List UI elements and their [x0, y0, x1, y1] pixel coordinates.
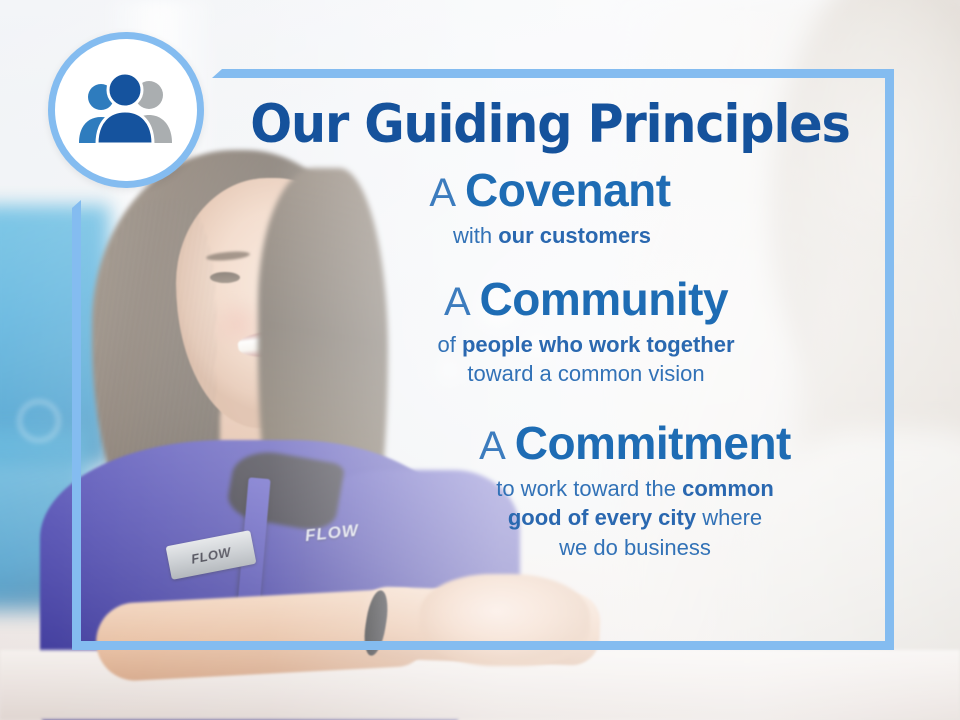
- principle-commitment-heading: A Commitment: [370, 420, 900, 468]
- principle-commitment-sub-bold-1: common: [682, 476, 774, 501]
- principle-community-subtext: of people who work together toward a com…: [272, 330, 900, 388]
- principles-content: Our Guiding Principles A Covenant with o…: [200, 80, 900, 640]
- principle-community-sub-bold-1: people who work together: [462, 332, 735, 357]
- principle-covenant-heading: A Covenant: [200, 167, 900, 215]
- principle-covenant-sub-bold-1: our customers: [498, 223, 651, 248]
- principle-commitment-sub-plain-1: to work toward the: [496, 476, 682, 501]
- principle-commitment-word: Commitment: [515, 417, 791, 469]
- principle-commitment-lead: A: [479, 424, 515, 468]
- principle-commitment-sub-last-line: we do business: [559, 535, 711, 560]
- people-group-badge: [48, 32, 204, 188]
- principle-commitment-sub-plain-3: where: [696, 505, 762, 530]
- principle-covenant: A Covenant with our customers: [200, 167, 900, 250]
- photo-car-brand-logo: [18, 400, 60, 442]
- principle-community-word: Community: [480, 273, 729, 325]
- people-group-icon: [74, 73, 178, 147]
- principle-community-sub-plain-1: of: [437, 332, 461, 357]
- principle-community-lead: A: [444, 280, 480, 324]
- principle-commitment-subtext: to work toward the common good of every …: [370, 474, 900, 562]
- principle-commitment-sub-bold-2: good of every city: [508, 505, 696, 530]
- principle-covenant-lead: A: [429, 171, 465, 215]
- principle-covenant-subtext: with our customers: [200, 221, 900, 250]
- page-title: Our Guiding Principles: [225, 98, 876, 151]
- principle-commitment: A Commitment to work toward the common g…: [200, 420, 900, 562]
- principle-covenant-word: Covenant: [465, 164, 671, 216]
- principle-community-heading: A Community: [272, 276, 900, 324]
- principle-community-sub-plain-2: toward a common vision: [467, 361, 704, 386]
- principle-covenant-sub-plain-1: with: [453, 223, 498, 248]
- principle-community: A Community of people who work together …: [200, 276, 900, 388]
